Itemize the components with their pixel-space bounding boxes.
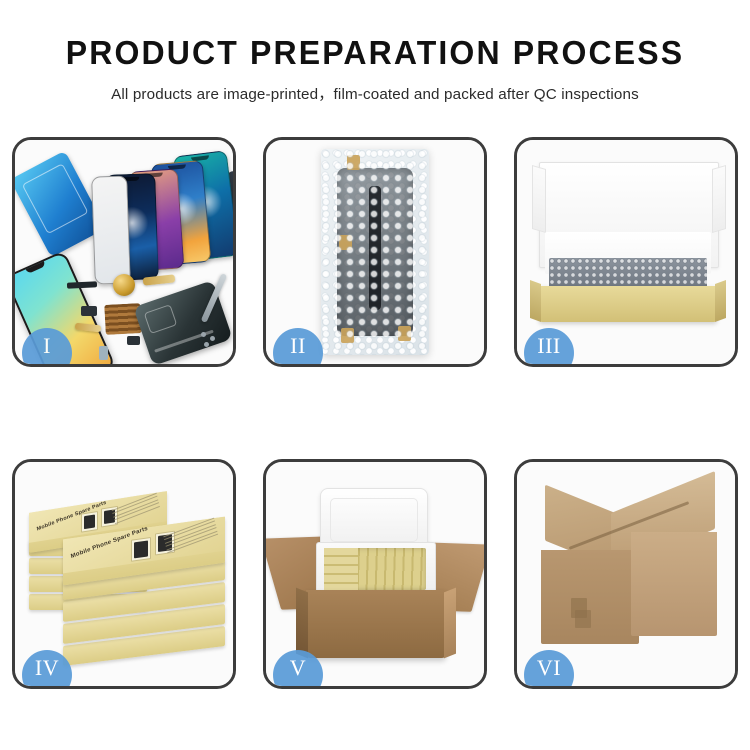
small-part-1-icon [81, 306, 97, 316]
kraft-tray-icon [539, 286, 717, 322]
step-panel-6: VI [514, 459, 738, 689]
sealed-carton-icon [537, 490, 719, 650]
page-header: PRODUCT PREPARATION PROCESS All products… [0, 0, 750, 104]
carton-side-face [631, 532, 717, 636]
box-window-rear-1 [81, 511, 98, 533]
bubble-wrap-bag-icon [321, 149, 429, 355]
box-window-front-1 [131, 537, 151, 562]
tape-1-icon [347, 155, 360, 170]
screws-icon [201, 332, 219, 348]
box-stack-icon: Mobile Phone Spare Parts [29, 484, 225, 670]
packed-kraft-boxes-icon [324, 548, 426, 590]
phone-lineup-icon [103, 150, 233, 270]
step-panel-4: Mobile Phone Spare Parts [12, 459, 236, 689]
tape-4-icon [398, 326, 411, 341]
carton-tape-bottom-icon [575, 610, 591, 628]
page-title: PRODUCT PREPARATION PROCESS [11, 36, 739, 69]
box-spec-lines-rear [112, 493, 161, 526]
page-subtitle: All products are image-printed，film-coat… [0, 82, 750, 104]
coil-component-icon [113, 274, 135, 296]
wrapped-part-icon [337, 168, 413, 336]
tape-3-icon [341, 328, 354, 343]
step-panel-5: V [263, 459, 487, 689]
step-panel-3: III [514, 137, 738, 367]
tape-2-icon [339, 235, 352, 250]
small-part-2-icon [127, 336, 140, 345]
step-panel-1: I [12, 137, 236, 367]
process-step-grid: I II III [12, 137, 738, 689]
screen-protector-icon [91, 175, 131, 284]
carton-body-icon [306, 590, 446, 658]
box-spec-lines-front [163, 518, 218, 556]
step-panel-2: II [263, 137, 487, 367]
carton-front-face [541, 550, 639, 644]
antenna-bar-icon [67, 281, 97, 289]
sim-tray-icon [99, 346, 108, 360]
